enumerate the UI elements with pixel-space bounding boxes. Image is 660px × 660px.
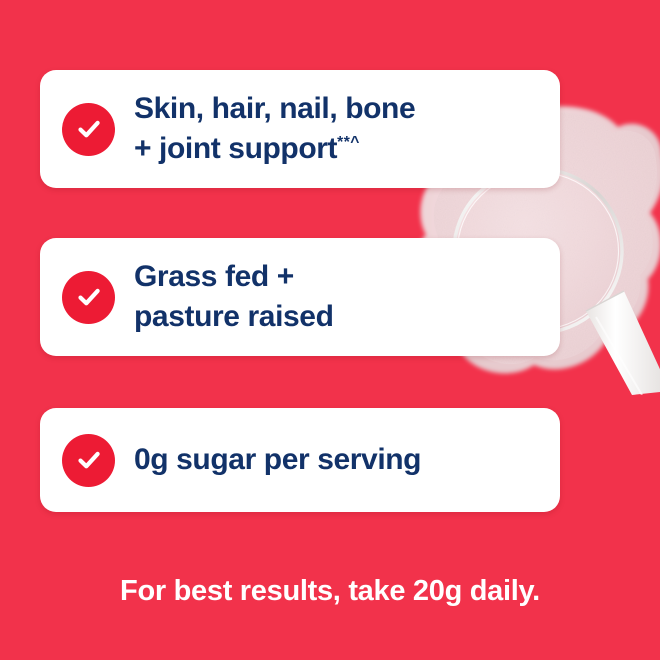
check-icon [62, 103, 115, 156]
benefit-card: Skin, hair, nail, bone + joint support**… [40, 70, 560, 188]
promo-graphic: Skin, hair, nail, bone + joint support**… [0, 0, 660, 660]
benefit-text: Grass fed + pasture raised [134, 257, 334, 337]
benefit-label: Grass fed + pasture raised [134, 260, 334, 333]
benefit-superscript: **^ [337, 134, 360, 151]
benefit-label: Skin, hair, nail, bone + joint support [134, 92, 415, 165]
benefit-card: 0g sugar per serving [40, 408, 560, 512]
benefit-label: 0g sugar per serving [134, 443, 421, 476]
benefit-card: Grass fed + pasture raised [40, 238, 560, 356]
benefit-text: Skin, hair, nail, bone + joint support**… [134, 89, 415, 169]
footer-caption: For best results, take 20g daily. [0, 575, 660, 608]
check-icon [62, 271, 115, 324]
benefit-text: 0g sugar per serving [134, 440, 421, 480]
check-icon [62, 434, 115, 487]
